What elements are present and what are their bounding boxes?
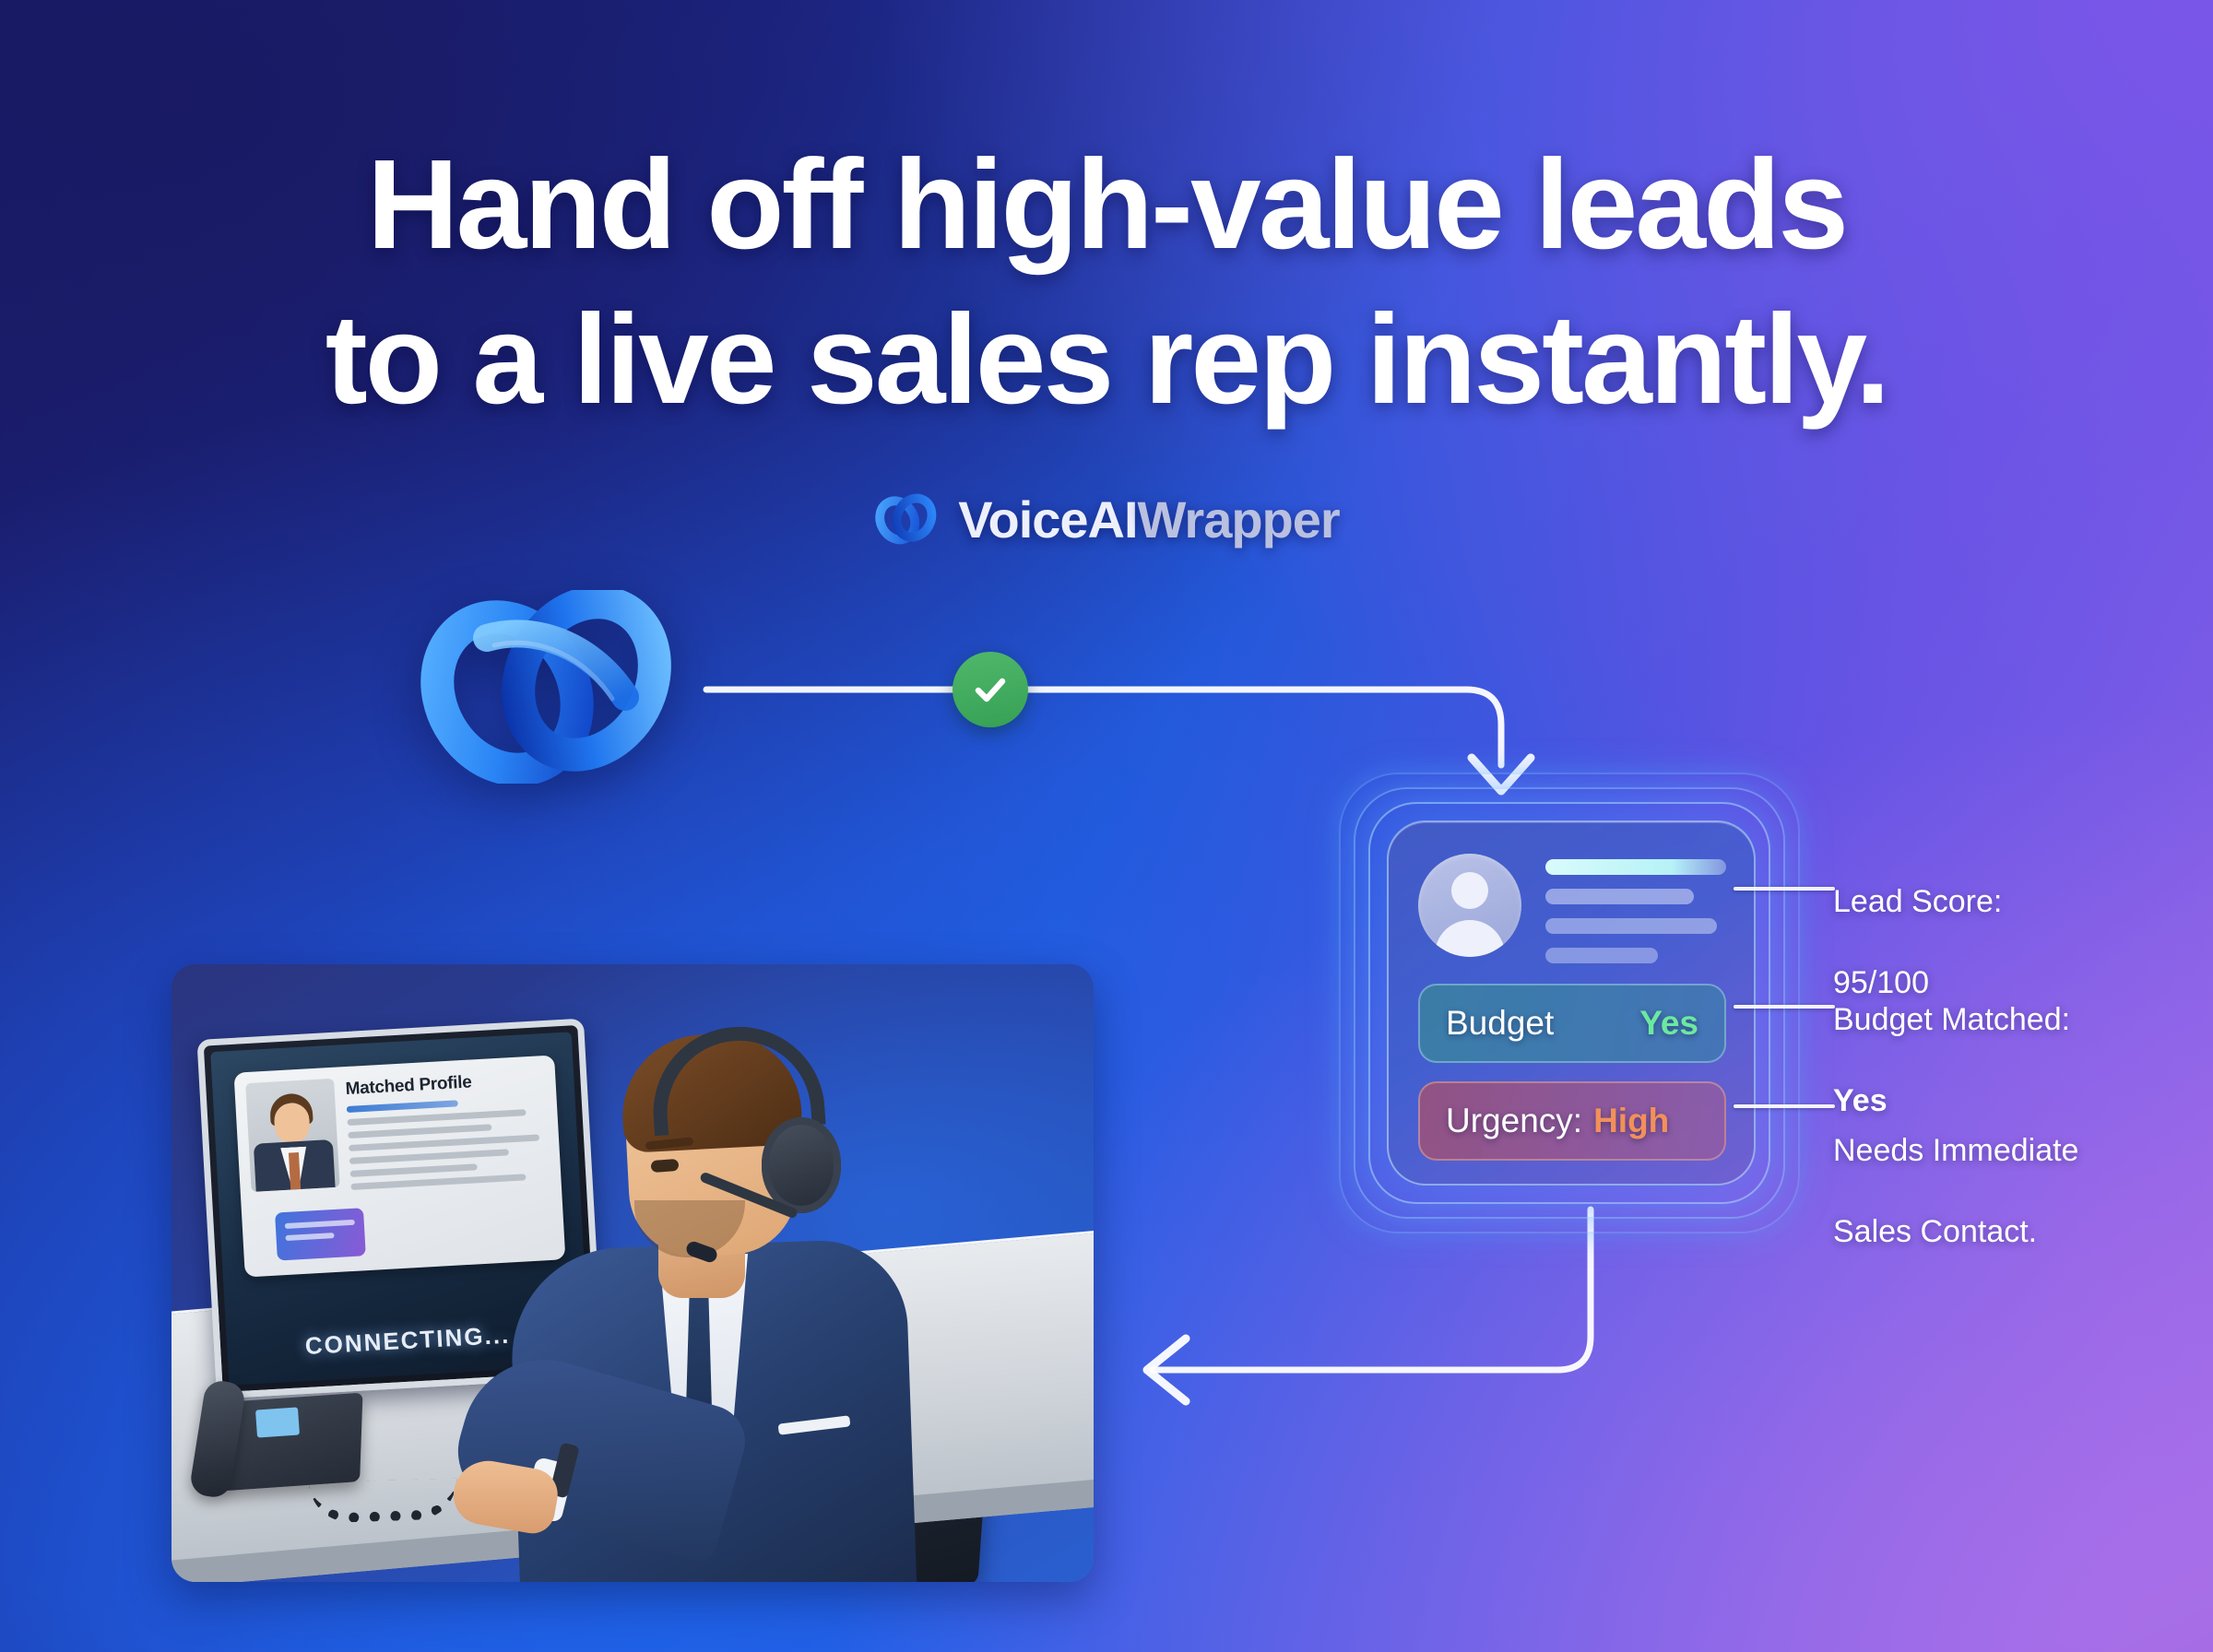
avatar-head-shape [1451, 872, 1488, 909]
annotation-needs-contact-value: Sales Contact. [1833, 1211, 2078, 1252]
lead-card-container: Budget Yes Urgency: High [1339, 773, 1800, 1233]
annotation-lead-score-label: Lead Score: [1833, 881, 2002, 922]
urgency-label: Urgency: [1446, 1102, 1582, 1140]
skeleton-line [1545, 859, 1726, 875]
profile-skeleton-line [348, 1124, 491, 1139]
lead-card[interactable]: Budget Yes Urgency: High [1387, 820, 1756, 1186]
profile-skeleton-line [349, 1149, 509, 1164]
button-line [285, 1233, 334, 1241]
skeleton-line [1545, 889, 1694, 904]
desk-phone-screen [255, 1407, 300, 1437]
infinity-loop-logo-icon [398, 590, 693, 784]
urgency-value: High [1593, 1102, 1669, 1140]
profile-face-shape [273, 1102, 310, 1144]
button-line [285, 1220, 355, 1229]
brand-name-part2: Wrapper [1138, 490, 1340, 549]
annotation-needs-contact: Needs Immediate Sales Contact. [1833, 1090, 2078, 1292]
leader-line-needs-contact [1734, 1104, 1835, 1108]
check-circle-icon [953, 652, 1028, 727]
brand-lockup: VoiceAIWrapper [873, 487, 1339, 551]
headset-earcup-icon [762, 1117, 841, 1213]
brand-name-part1: VoiceAI [958, 490, 1137, 549]
lead-card-skeleton-lines [1545, 854, 1726, 963]
brand-name: VoiceAIWrapper [958, 490, 1339, 549]
page-title: Hand off high-value leads to a live sale… [0, 127, 2213, 437]
rep-eye [651, 1159, 680, 1173]
budget-label: Budget [1446, 1004, 1554, 1043]
lead-card-header [1418, 854, 1726, 963]
headline-line-1: Hand off high-value leads [0, 127, 2213, 282]
user-avatar-icon [1418, 854, 1521, 957]
profile-skeleton-line [350, 1163, 478, 1177]
infinity-loop-logo-icon [873, 487, 938, 551]
lead-card-row-budget[interactable]: Budget Yes [1418, 984, 1726, 1063]
annotation-budget-matched-label: Budget Matched: [1833, 999, 2070, 1040]
sales-rep-figure [496, 1003, 929, 1582]
leader-line-lead-score [1734, 887, 1835, 891]
sales-rep-photo-panel: Matched Profile CONNECTING... [172, 964, 1094, 1582]
avatar-body-shape [1435, 920, 1505, 957]
skeleton-line [1545, 948, 1658, 963]
headline-line-2: to a live sales rep instantly. [0, 282, 2213, 437]
profile-photo-icon [245, 1079, 339, 1192]
leader-line-budget-matched [1734, 1005, 1835, 1009]
annotation-needs-contact-label: Needs Immediate [1833, 1130, 2078, 1171]
lead-card-row-urgency[interactable]: Urgency: High [1418, 1081, 1726, 1161]
budget-value: Yes [1639, 1004, 1698, 1043]
profile-skeleton-line [347, 1100, 458, 1113]
skeleton-line [1545, 918, 1717, 934]
profile-action-button [275, 1208, 366, 1260]
profile-tie-shape [289, 1152, 301, 1190]
